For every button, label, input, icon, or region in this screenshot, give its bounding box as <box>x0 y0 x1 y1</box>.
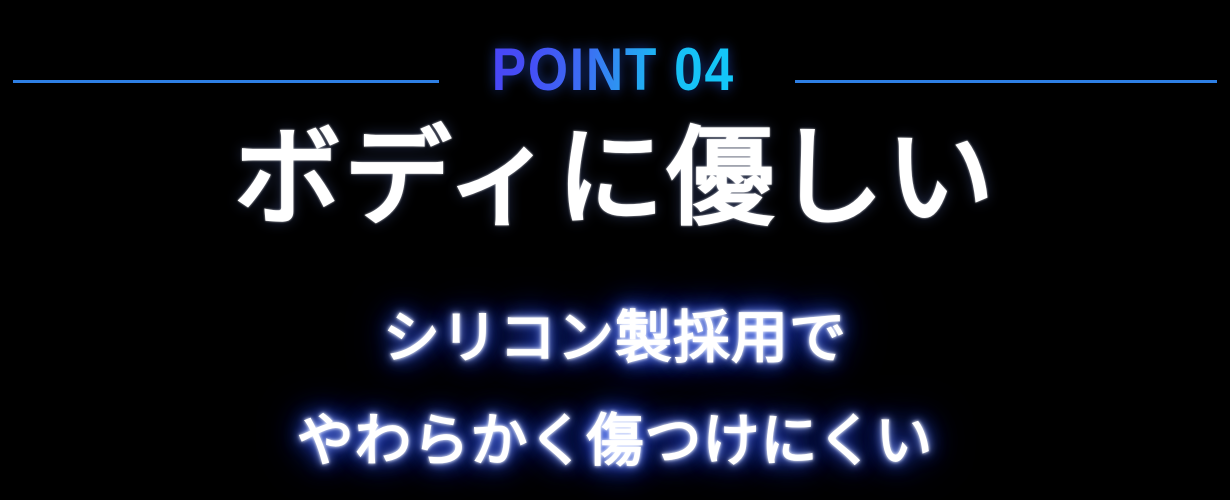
point-04-banner: POINT 04 ボディに優しい シリコン製採用で やわらかく傷つけにくい <box>0 0 1230 500</box>
point-number-label: POINT 04 <box>492 40 735 100</box>
subtitle-block: シリコン製採用で やわらかく傷つけにくい <box>0 286 1230 492</box>
subtitle-line-1: シリコン製採用で <box>0 286 1230 389</box>
divider-line-right <box>795 80 1217 83</box>
headline-title: ボディに優しい <box>0 118 1230 239</box>
divider-line-left <box>13 80 439 83</box>
eyebrow-row: POINT 04 <box>0 24 1230 116</box>
subtitle-line-2: やわらかく傷つけにくい <box>0 389 1230 492</box>
